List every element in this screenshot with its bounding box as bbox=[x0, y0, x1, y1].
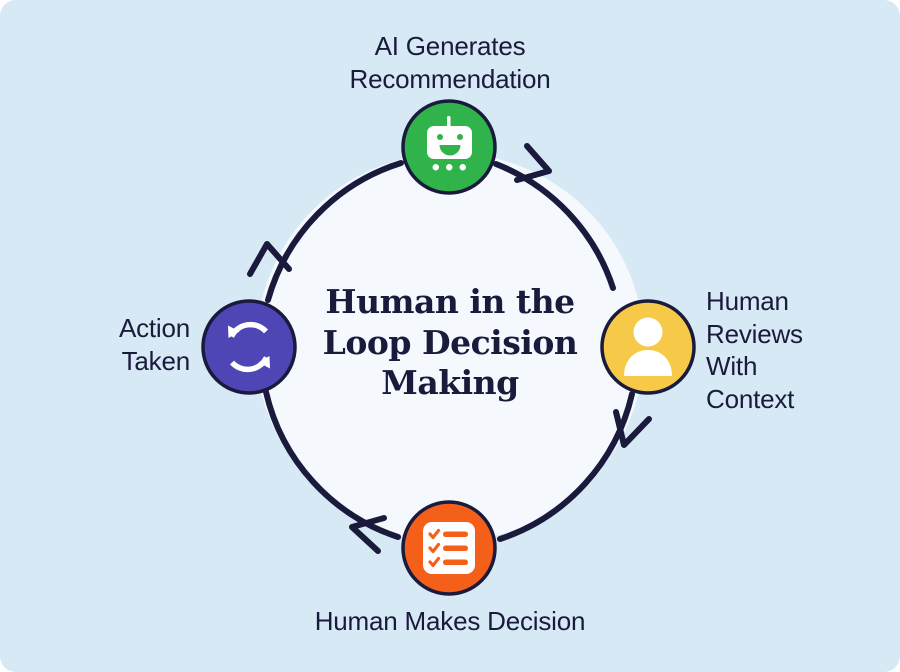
checklist-icon bbox=[423, 522, 475, 574]
node-label-human-reviews: Human Reviews With Context bbox=[706, 285, 896, 415]
node-circle-human-reviews[interactable] bbox=[602, 301, 694, 393]
node-action-taken[interactable] bbox=[203, 301, 295, 393]
node-label-ai-generates: AI Generates Recommendation bbox=[250, 30, 650, 95]
node-circle-action-taken[interactable] bbox=[203, 301, 295, 393]
node-label-human-decides: Human Makes Decision bbox=[250, 605, 650, 638]
node-human-decides[interactable] bbox=[403, 502, 495, 594]
node-label-action-taken: Action Taken bbox=[20, 312, 190, 377]
node-ai-generates[interactable] bbox=[403, 101, 495, 193]
diagram-canvas: AI Generates Recommendation Human Review… bbox=[0, 0, 900, 672]
diagram-center-title: Human in the Loop Decision Making bbox=[300, 282, 600, 404]
node-human-reviews[interactable] bbox=[602, 301, 694, 393]
